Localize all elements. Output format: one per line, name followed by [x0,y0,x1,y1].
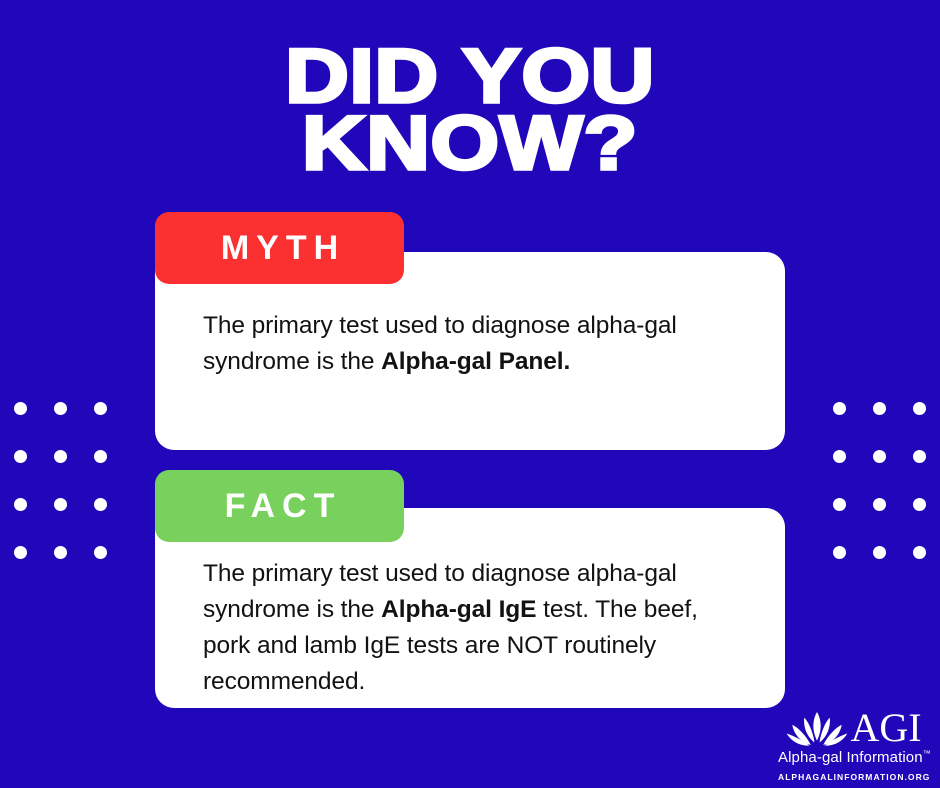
fact-body-emphasis: Alpha-gal IgE [381,596,536,623]
agi-logo: AGI Alpha-gal Information™ ALPHAGALINFOR… [778,707,930,782]
decorative-dot [913,546,926,559]
page-title: DID YOU KNOW? [0,44,940,178]
decorative-dot [14,546,27,559]
decorative-dot [94,402,107,415]
logo-wordmark: AGI [850,710,921,747]
decorative-dot [54,498,67,511]
decorative-dot [14,498,27,511]
decorative-dot [913,450,926,463]
poster-canvas: DID YOU KNOW? The primary test used to d… [0,0,940,788]
logo-tagline-text: Alpha-gal Information [778,749,923,766]
decorative-dot [94,498,107,511]
dot-grid-right [833,402,940,594]
myth-badge-label: MYTH [214,229,345,268]
decorative-dot [913,498,926,511]
decorative-dot [833,402,846,415]
decorative-dot [14,402,27,415]
fact-badge-label: FACT [218,487,342,526]
decorative-dot [54,450,67,463]
decorative-dot [94,450,107,463]
decorative-dot [913,402,926,415]
decorative-dot [94,546,107,559]
decorative-dot [54,546,67,559]
decorative-dot [833,498,846,511]
myth-body-text: The primary test used to diagnose alpha-… [203,308,749,380]
fact-body-text: The primary test used to diagnose alpha-… [203,556,749,700]
decorative-dot [873,450,886,463]
decorative-dot [14,450,27,463]
dot-grid-left [14,402,134,594]
decorative-dot [54,402,67,415]
logo-website-url: ALPHAGALINFORMATION.ORG [778,772,930,782]
decorative-dot [873,546,886,559]
trademark-symbol: ™ [923,749,931,758]
decorative-dot [833,546,846,559]
lotus-flower-icon [786,711,848,747]
myth-body-emphasis: Alpha-gal Panel. [381,348,570,375]
logo-lockup: AGI [778,707,930,747]
fact-badge: FACT [155,470,404,542]
decorative-dot [833,450,846,463]
decorative-dot [873,498,886,511]
myth-badge: MYTH [155,212,404,284]
decorative-dot [873,402,886,415]
logo-tagline: Alpha-gal Information™ [778,749,930,766]
